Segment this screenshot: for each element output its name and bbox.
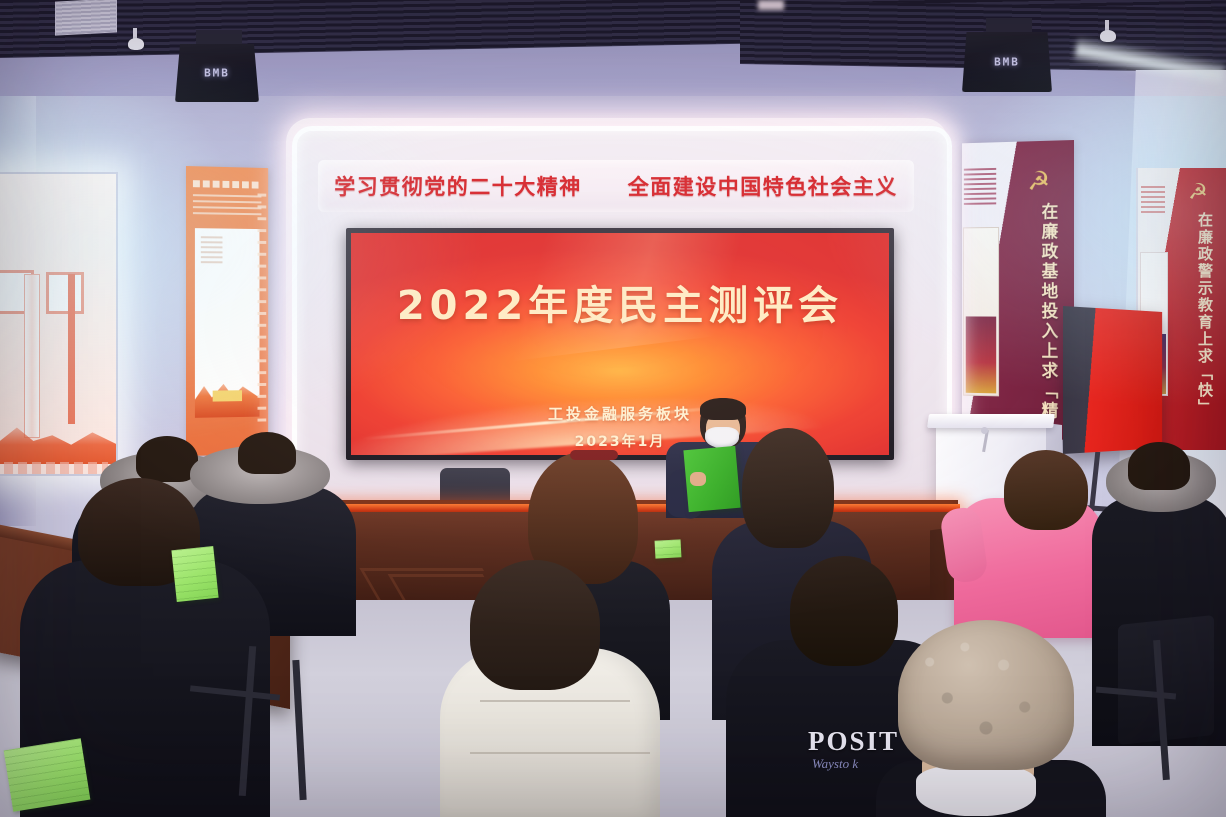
- poster-caption-lines: [4, 462, 108, 476]
- coat-seam: [480, 700, 630, 702]
- attendee-head: [136, 436, 198, 482]
- attendee-hair: [470, 560, 600, 690]
- speaker-bracket-left: [196, 30, 242, 46]
- wall-poster-orange: [186, 166, 268, 456]
- attendee-head: [238, 432, 296, 474]
- panel-body-text-lines: [964, 168, 996, 206]
- evaluation-ballot: [4, 738, 91, 811]
- party-emblem-icon: ☭: [1186, 180, 1210, 204]
- presenter-hand: [690, 472, 706, 486]
- face-mask-icon: [705, 427, 739, 448]
- attendee-head: [1128, 442, 1190, 490]
- ballot-ruled-lines: [4, 738, 91, 811]
- wall-banner: 学习贯彻党的二十大精神 全面建设中国特色社会主义: [318, 160, 914, 212]
- led-display-screen: 2022年度民主测评会 工投金融服务板块 2023年1月: [351, 233, 889, 455]
- microphone-head-icon: [981, 427, 988, 434]
- tiananmen-gate-graphic: [213, 390, 242, 401]
- poster-column-graphic: [24, 274, 40, 438]
- poster-inner-card: [195, 228, 260, 418]
- secondary-monitor: [1063, 306, 1162, 454]
- poster-heading-lines: [193, 180, 261, 188]
- wall-poster-left: [0, 172, 118, 476]
- party-emblem-icon: ☭: [1025, 167, 1052, 195]
- attendee-hair: [1004, 450, 1088, 530]
- poster-bar-graphic: [68, 274, 75, 424]
- led-screen-title: 2022年度民主测评会: [351, 273, 889, 331]
- ballot-ruled-lines: [655, 539, 682, 558]
- poster-card-text-lines: [201, 236, 223, 266]
- panel-photo-card: [963, 227, 999, 396]
- led-screen-subtitle: 工投金融服务板块: [351, 403, 889, 424]
- hat-texture: [898, 620, 1074, 770]
- ceiling-camera-right: [1100, 30, 1116, 42]
- banner-text-right: 全面建设中国特色社会主义: [628, 171, 898, 201]
- panel-photo-image: [966, 316, 996, 393]
- poster-mountain-graphic: [0, 416, 116, 464]
- evaluation-ballot: [655, 539, 682, 558]
- wall-speaker-right: BMB: [962, 32, 1052, 92]
- wall-panel-maroon: ☭ 在廉政基地投入上求「精」: [962, 140, 1074, 440]
- lectern-top-surface: [927, 414, 1055, 428]
- hair-band: [570, 450, 618, 460]
- ceiling-air-vent: [55, 0, 117, 36]
- speaker-bracket-right: [986, 18, 1032, 34]
- led-display-bezel: 2022年度民主测评会 工投金融服务板块 2023年1月: [346, 228, 894, 460]
- ceiling-camera-left: [128, 38, 144, 50]
- ceiling-light-spot: [758, 0, 784, 10]
- attendee-hair: [742, 428, 834, 548]
- panel-maroon-vertical-text: 在廉政基地投入上求「精」: [1021, 202, 1060, 439]
- wall-speaker-left: BMB: [175, 44, 259, 102]
- ballot-ruled-lines: [171, 546, 218, 602]
- panel-body-text-lines: [1141, 186, 1165, 216]
- speaker-brand-label: BMB: [994, 56, 1020, 69]
- banner-text-left: 学习贯彻党的二十大精神: [334, 171, 582, 201]
- speaker-brand-label: BMB: [204, 67, 230, 80]
- panel-red-vertical-text: 在廉政警示教育上求「快」: [1182, 212, 1216, 416]
- poster-badge: [46, 272, 84, 314]
- meeting-room-photo: ☭ 在廉政基地投入上求「精」 ☭ 在廉政警示教育上求「快」 BMB BMB 学习…: [0, 0, 1226, 817]
- presenter-hair: [700, 398, 746, 420]
- coat-seam: [470, 752, 650, 754]
- poster-body-lines: [193, 194, 261, 217]
- attendee-hair: [790, 556, 898, 666]
- evaluation-ballot: [171, 546, 218, 602]
- poster-side-text: [258, 193, 267, 430]
- face-mask-icon: [916, 766, 1036, 816]
